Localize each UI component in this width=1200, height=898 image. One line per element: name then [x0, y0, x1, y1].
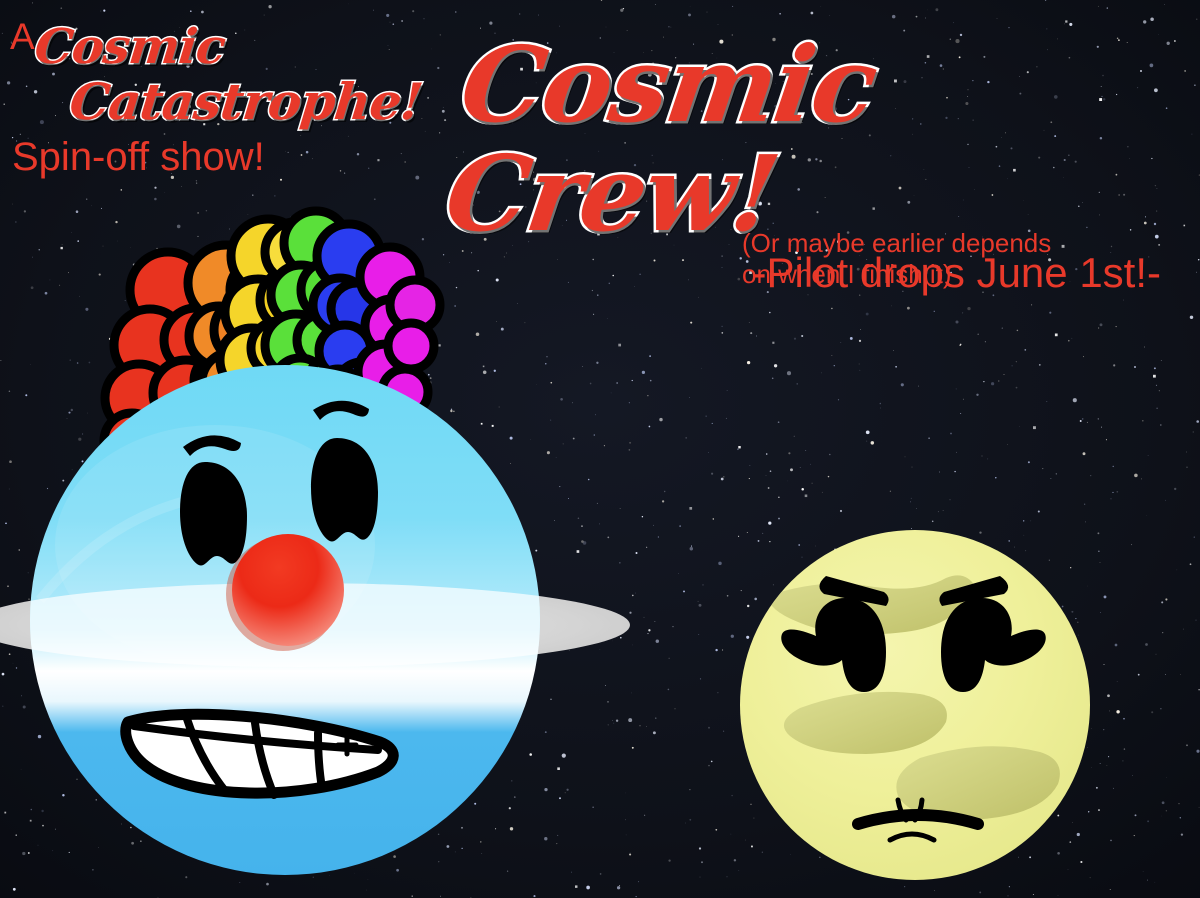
release-note-line-1: (Or maybe earlier depends: [742, 228, 1142, 259]
poster-canvas: ACosmic Catastrophe! Spin-off show! Cosm…: [0, 0, 1200, 898]
spinoff-word-cosmic: Cosmic: [32, 23, 227, 71]
spinoff-word-catastrophe: Catastrophe!: [67, 77, 432, 127]
spinoff-tagline: Spin-off show!: [12, 137, 430, 177]
spinoff-prefix: A: [10, 18, 35, 55]
main-title: Cosmic Crew!: [440, 30, 1200, 248]
spinoff-title-line1: ACosmic: [10, 18, 430, 71]
grumpy-moon-group: [740, 530, 1090, 880]
spinoff-banner: ACosmic Catastrophe! Spin-off show!: [10, 18, 430, 177]
release-note-line-2: on when I finish it): [742, 259, 1142, 290]
release-note: (Or maybe earlier depends on when I fini…: [742, 228, 1142, 289]
clown-planet-group: [0, 211, 630, 875]
